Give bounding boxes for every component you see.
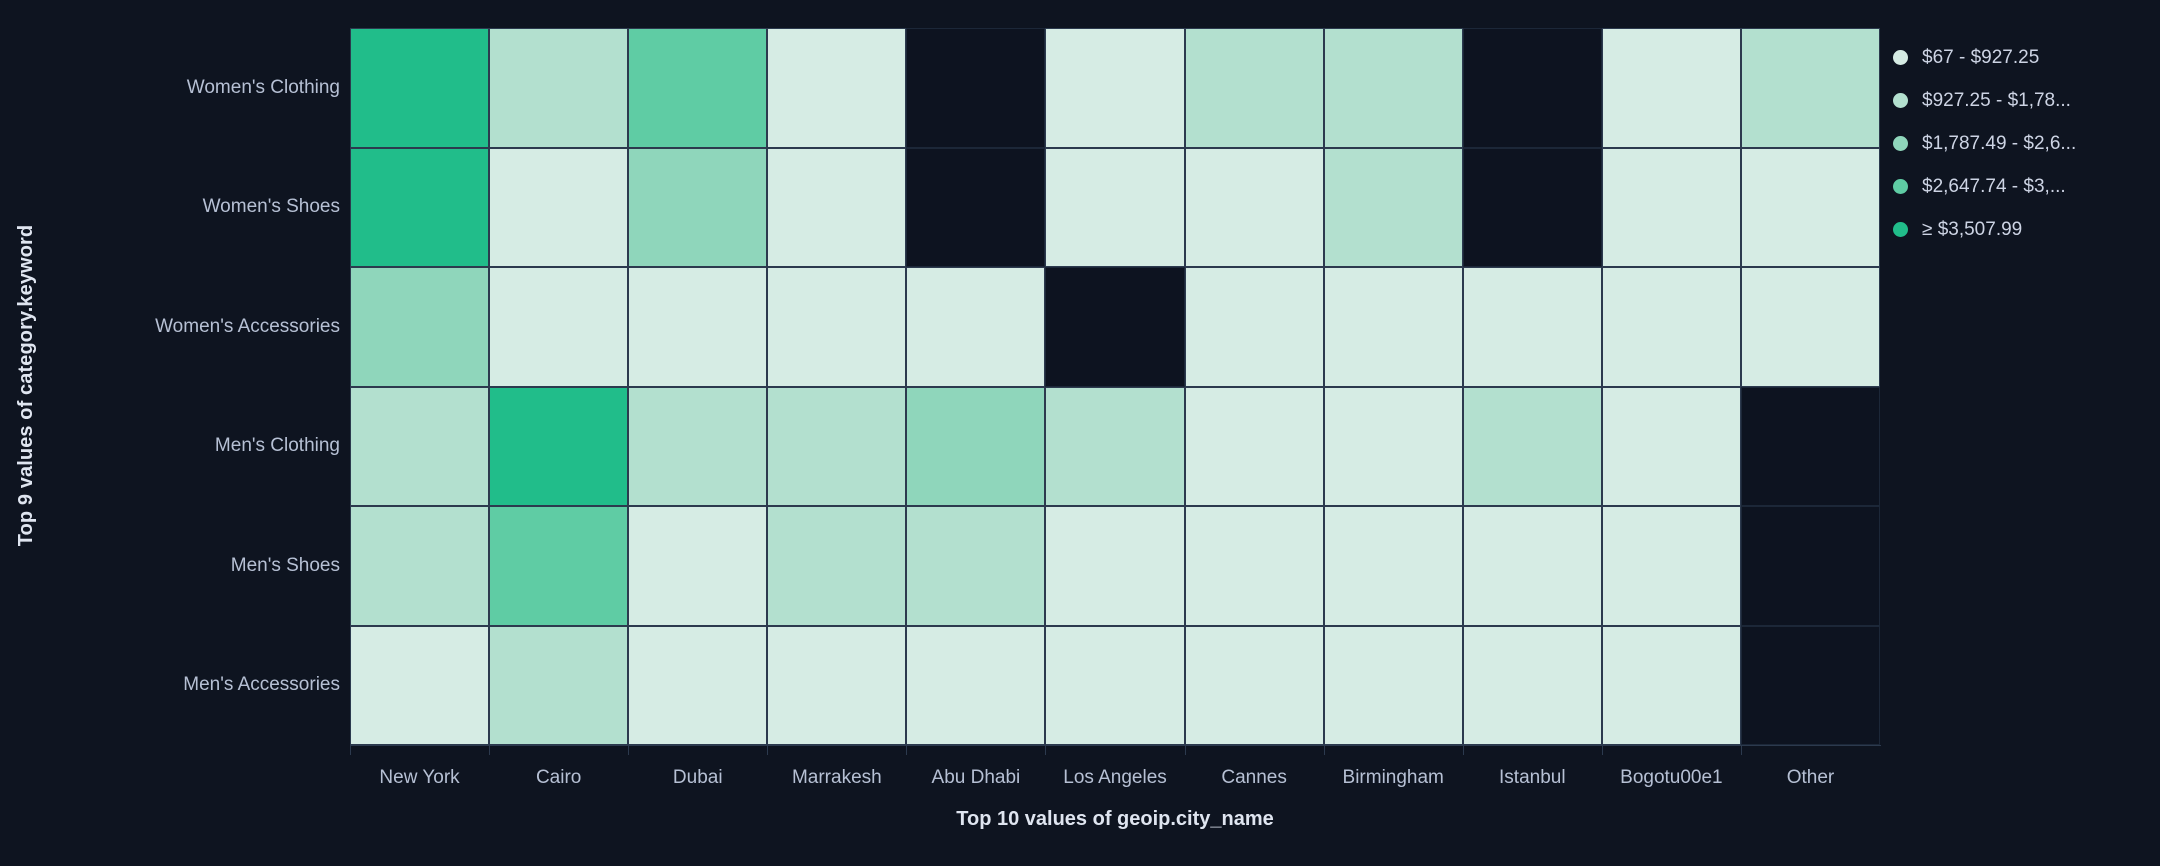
heatmap-cell[interactable]: [350, 28, 489, 148]
heatmap-cell[interactable]: [1463, 267, 1602, 387]
x-axis-tick-label: Istanbul: [1463, 745, 1602, 795]
y-axis-tick-label: Women's Shoes: [40, 196, 340, 218]
y-axis-tick-label: Women's Clothing: [40, 77, 340, 99]
legend-item-label: $67 - $927.25: [1922, 47, 2039, 69]
x-axis-title: Top 10 values of geoip.city_name: [350, 808, 1880, 831]
heatmap-cell[interactable]: [1045, 506, 1184, 626]
heatmap-cell[interactable]: [1324, 148, 1463, 268]
heatmap-cell[interactable]: [1741, 267, 1880, 387]
heatmap-row: [350, 148, 1880, 268]
x-axis-tick-label: Marrakesh: [767, 745, 906, 795]
heatmap-cell[interactable]: [767, 506, 906, 626]
heatmap-cell[interactable]: [628, 506, 767, 626]
heatmap-cell[interactable]: [489, 148, 628, 268]
heatmap-cell[interactable]: [1045, 28, 1184, 148]
heatmap-cell[interactable]: [350, 626, 489, 746]
heatmap-row: [350, 267, 1880, 387]
heatmap-cell[interactable]: [767, 148, 906, 268]
heatmap-row: [350, 626, 1880, 746]
heatmap-cell[interactable]: [1185, 626, 1324, 746]
heatmap-cell[interactable]: [1185, 387, 1324, 507]
heatmap-cell[interactable]: [628, 387, 767, 507]
heatmap-cell[interactable]: [1185, 148, 1324, 268]
x-axis-tick-labels: New YorkCairoDubaiMarrakeshAbu DhabiLos …: [350, 745, 1880, 795]
heatmap-visualization: Top 9 values of category.keyword Women's…: [0, 0, 2160, 866]
heatmap-cell[interactable]: [1741, 148, 1880, 268]
heatmap-cell[interactable]: [906, 626, 1045, 746]
heatmap-cell[interactable]: [1602, 267, 1741, 387]
heatmap-cell[interactable]: [1324, 28, 1463, 148]
heatmap-cell[interactable]: [489, 387, 628, 507]
legend: $67 - $927.25$927.25 - $1,78...$1,787.49…: [1893, 36, 2155, 251]
y-axis-tick-label: Men's Clothing: [40, 435, 340, 457]
heatmap-cell[interactable]: [1045, 148, 1184, 268]
x-axis-tick-label: New York: [350, 745, 489, 795]
y-axis-tick-label: Men's Shoes: [40, 555, 340, 577]
y-axis-tick-label: Women's Accessories: [40, 316, 340, 338]
heatmap-cell[interactable]: [1741, 506, 1880, 626]
heatmap-cell[interactable]: [489, 626, 628, 746]
heatmap-cell[interactable]: [767, 267, 906, 387]
heatmap-cell[interactable]: [628, 626, 767, 746]
heatmap-cell[interactable]: [350, 506, 489, 626]
heatmap-cell[interactable]: [767, 387, 906, 507]
heatmap-cell[interactable]: [1185, 506, 1324, 626]
x-axis-tick-label: Bogotu00e1: [1602, 745, 1741, 795]
legend-color-dot-icon: [1893, 93, 1908, 108]
heatmap-cell[interactable]: [1324, 626, 1463, 746]
heatmap-cell[interactable]: [350, 387, 489, 507]
heatmap-cell[interactable]: [906, 267, 1045, 387]
heatmap-cell[interactable]: [767, 28, 906, 148]
x-axis-tick-label: Dubai: [628, 745, 767, 795]
heatmap-row: [350, 28, 1880, 148]
legend-item[interactable]: $2,647.74 - $3,...: [1893, 165, 2155, 208]
heatmap-cell[interactable]: [1741, 626, 1880, 746]
heatmap-cell[interactable]: [1045, 626, 1184, 746]
heatmap-cell[interactable]: [1463, 626, 1602, 746]
heatmap-grid: [350, 28, 1880, 745]
legend-color-dot-icon: [1893, 50, 1908, 65]
x-axis-tick-label: Abu Dhabi: [906, 745, 1045, 795]
legend-color-dot-icon: [1893, 136, 1908, 151]
heatmap-cell[interactable]: [906, 506, 1045, 626]
heatmap-cell[interactable]: [1602, 148, 1741, 268]
heatmap-cell[interactable]: [1602, 506, 1741, 626]
legend-item[interactable]: $67 - $927.25: [1893, 36, 2155, 79]
heatmap-cell[interactable]: [906, 387, 1045, 507]
heatmap-cell[interactable]: [1324, 387, 1463, 507]
heatmap-cell[interactable]: [1463, 506, 1602, 626]
legend-item[interactable]: ≥ $3,507.99: [1893, 208, 2155, 251]
heatmap-cell[interactable]: [350, 267, 489, 387]
legend-item[interactable]: $1,787.49 - $2,6...: [1893, 122, 2155, 165]
heatmap-cell[interactable]: [1463, 387, 1602, 507]
legend-item-label: $1,787.49 - $2,6...: [1922, 133, 2076, 155]
heatmap-cell[interactable]: [1602, 626, 1741, 746]
x-axis-tick-label: Cannes: [1185, 745, 1324, 795]
heatmap-cell[interactable]: [489, 28, 628, 148]
heatmap-cell[interactable]: [767, 626, 906, 746]
x-axis-tick-label: Los Angeles: [1045, 745, 1184, 795]
legend-color-dot-icon: [1893, 222, 1908, 237]
legend-item-label: $927.25 - $1,78...: [1922, 90, 2071, 112]
y-axis-tick-labels: Women's ClothingWomen's ShoesWomen's Acc…: [30, 28, 340, 745]
legend-item-label: $2,647.74 - $3,...: [1922, 176, 2066, 198]
legend-item[interactable]: $927.25 - $1,78...: [1893, 79, 2155, 122]
heatmap-cell[interactable]: [1463, 28, 1602, 148]
heatmap-cell[interactable]: [628, 267, 767, 387]
heatmap-row: [350, 387, 1880, 507]
heatmap-cell[interactable]: [1045, 387, 1184, 507]
x-axis-tick-label: Cairo: [489, 745, 628, 795]
heatmap-cell[interactable]: [1045, 267, 1184, 387]
heatmap-cell[interactable]: [1602, 387, 1741, 507]
heatmap-cell[interactable]: [1324, 267, 1463, 387]
heatmap-cell[interactable]: [1324, 506, 1463, 626]
x-axis-tick-label: Birmingham: [1324, 745, 1463, 795]
heatmap-cell[interactable]: [628, 148, 767, 268]
heatmap-cell[interactable]: [1185, 267, 1324, 387]
heatmap-cell[interactable]: [906, 148, 1045, 268]
heatmap-cell[interactable]: [1602, 28, 1741, 148]
heatmap-cell[interactable]: [1463, 148, 1602, 268]
y-axis-tick-label: Men's Accessories: [40, 674, 340, 696]
heatmap-cell[interactable]: [1741, 28, 1880, 148]
heatmap-cell[interactable]: [489, 506, 628, 626]
heatmap-row: [350, 506, 1880, 626]
heatmap-cell[interactable]: [1741, 387, 1880, 507]
heatmap-cell[interactable]: [489, 267, 628, 387]
x-axis-tick-label: Other: [1741, 745, 1880, 795]
heatmap-cell[interactable]: [628, 28, 767, 148]
legend-color-dot-icon: [1893, 179, 1908, 194]
heatmap-cell[interactable]: [906, 28, 1045, 148]
heatmap-cell[interactable]: [350, 148, 489, 268]
heatmap-cell[interactable]: [1185, 28, 1324, 148]
legend-item-label: ≥ $3,507.99: [1922, 219, 2022, 241]
